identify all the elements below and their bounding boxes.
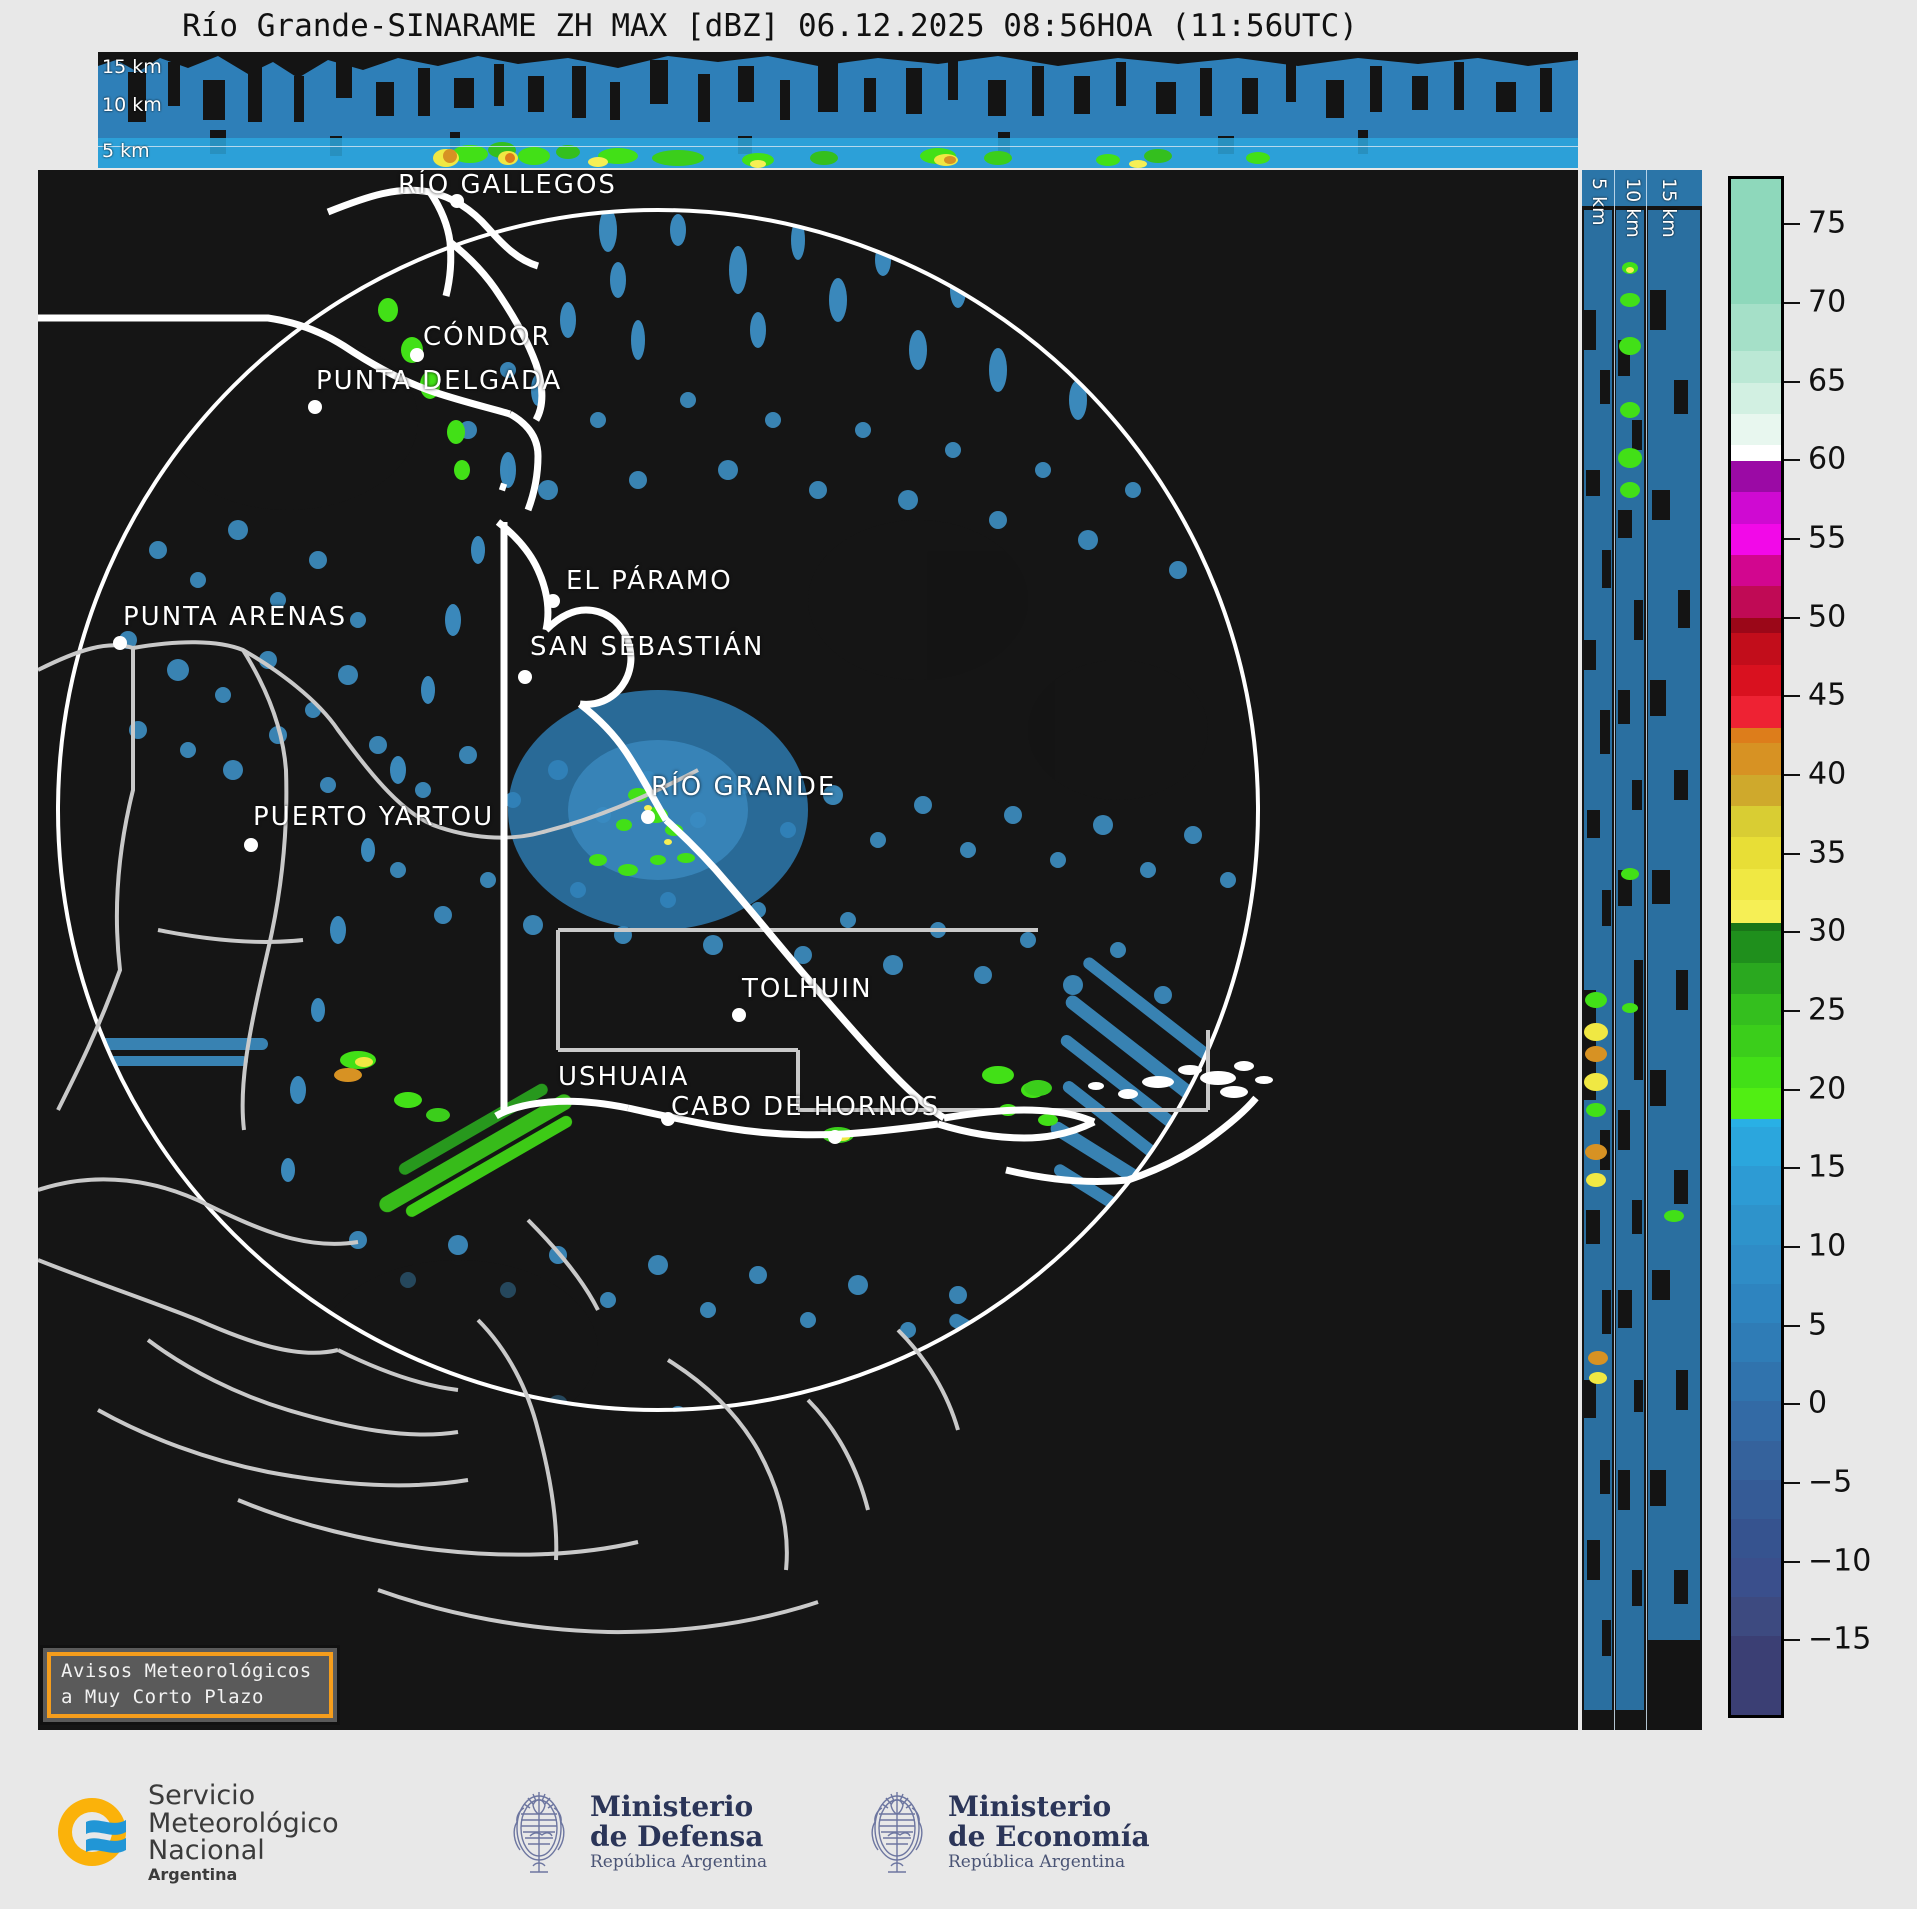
colorbar-segment bbox=[1731, 1597, 1781, 1636]
colorbar-tick-label: −5 bbox=[1808, 1464, 1852, 1499]
right-crosssection-echo bbox=[1582, 170, 1702, 1730]
colorbar-tick bbox=[1784, 459, 1800, 461]
colorbar-segment bbox=[1731, 837, 1781, 868]
argentina-coat-of-arms-icon bbox=[500, 1780, 578, 1884]
city-dot-condor bbox=[410, 348, 424, 362]
colorbar-segment bbox=[1731, 1057, 1781, 1088]
city-label-rio-grande: RÍO GRANDE bbox=[651, 772, 836, 802]
colorbar: −15−10−5051015202530354045505560657075 bbox=[1728, 176, 1784, 1718]
economia-line-1: Ministerio bbox=[948, 1792, 1150, 1821]
colorbar-tick-label: 10 bbox=[1808, 1228, 1846, 1263]
colorbar-segment bbox=[1731, 1245, 1781, 1284]
city-label-rio-gallegos: RÍO GALLEGOS bbox=[398, 170, 617, 200]
colorbar-tick bbox=[1784, 223, 1800, 225]
colorbar-tick bbox=[1784, 1639, 1800, 1641]
colorbar-gradient bbox=[1728, 176, 1784, 1718]
colorbar-segment bbox=[1731, 1025, 1781, 1056]
colorbar-segment bbox=[1731, 586, 1781, 617]
colorbar-tick bbox=[1784, 1089, 1800, 1091]
xsec-height-label-15km: 15 km bbox=[1658, 178, 1680, 238]
city-dot-punta-delgada bbox=[308, 400, 322, 414]
colorbar-tick-label: 35 bbox=[1808, 835, 1846, 870]
colorbar-segment bbox=[1731, 1480, 1781, 1519]
xsec-vertical-gridline-1 bbox=[1614, 170, 1615, 1730]
city-dot-rio-grande bbox=[641, 810, 655, 824]
city-label-tolhuin: TOLHUIN bbox=[742, 974, 873, 1004]
xsec-vertical-gridline-2 bbox=[1646, 170, 1647, 1730]
colorbar-tick bbox=[1784, 617, 1800, 619]
city-label-ushuaia: USHUAIA bbox=[558, 1062, 689, 1092]
footer-logos: Servicio Meteorológico Nacional Argentin… bbox=[0, 1760, 1917, 1909]
city-label-el-paramo: EL PÁRAMO bbox=[566, 566, 733, 596]
smn-line-2: Meteorológico bbox=[148, 1810, 339, 1838]
colorbar-tick bbox=[1784, 774, 1800, 776]
city-dot-rio-gallegos bbox=[450, 194, 464, 208]
colorbar-segment bbox=[1731, 461, 1781, 492]
smn-line-1: Servicio bbox=[148, 1782, 339, 1810]
colorbar-segment bbox=[1731, 963, 1781, 994]
colorbar-segment bbox=[1731, 775, 1781, 806]
colorbar-tick-label: 55 bbox=[1808, 520, 1846, 555]
city-dot-tolhuin bbox=[732, 1008, 746, 1022]
colorbar-segment bbox=[1731, 618, 1781, 634]
smn-logo-icon bbox=[46, 1786, 138, 1878]
colorbar-tick bbox=[1784, 695, 1800, 697]
colorbar-tick-label: 70 bbox=[1808, 284, 1846, 319]
colorbar-tick bbox=[1784, 1325, 1800, 1327]
colorbar-segment bbox=[1731, 1166, 1781, 1205]
height-label-10km: 10 km bbox=[102, 94, 162, 116]
colorbar-segment bbox=[1731, 994, 1781, 1025]
island-echo bbox=[982, 1066, 1052, 1096]
defensa-logo-text: Ministerio de Defensa República Argentin… bbox=[590, 1792, 767, 1872]
colorbar-tick-label: 45 bbox=[1808, 678, 1846, 713]
economia-line-2: de Economía bbox=[948, 1822, 1150, 1851]
city-label-punta-delgada: PUNTA DELGADA bbox=[316, 366, 562, 396]
xsec-height-label-5km: 5 km bbox=[1588, 178, 1610, 226]
colorbar-tick bbox=[1784, 1561, 1800, 1563]
colorbar-tick-label: 20 bbox=[1808, 1071, 1846, 1106]
smn-sub: Argentina bbox=[148, 1867, 339, 1883]
city-dot-san-sebastian bbox=[518, 670, 532, 684]
smn-line-3: Nacional bbox=[148, 1837, 339, 1865]
city-label-san-sebastian: SAN SEBASTIÁN bbox=[530, 632, 764, 662]
colorbar-tick bbox=[1784, 931, 1800, 933]
colorbar-segment bbox=[1731, 1119, 1781, 1127]
city-label-condor: CÓNDOR bbox=[423, 322, 552, 352]
colorbar-tick-label: 50 bbox=[1808, 599, 1846, 634]
colorbar-segment bbox=[1731, 806, 1781, 837]
colorbar-segment bbox=[1731, 931, 1781, 962]
colorbar-segment bbox=[1731, 351, 1781, 382]
colorbar-segment bbox=[1731, 728, 1781, 744]
colorbar-tick-label: 15 bbox=[1808, 1150, 1846, 1185]
logo-ministerio-economia: Ministerio de Economía República Argenti… bbox=[858, 1780, 1150, 1884]
colorbar-segment bbox=[1731, 1676, 1781, 1715]
warning-legend-inner: Avisos Meteorológicos a Muy Corto Plazo bbox=[47, 1652, 333, 1718]
colorbar-tick-label: 75 bbox=[1808, 206, 1846, 241]
colorbar-segment bbox=[1731, 1441, 1781, 1480]
colorbar-segment bbox=[1731, 304, 1781, 351]
colorbar-segment bbox=[1731, 1205, 1781, 1244]
colorbar-ticks: −15−10−5051015202530354045505560657075 bbox=[1784, 176, 1917, 1718]
colorbar-tick bbox=[1784, 1403, 1800, 1405]
colorbar-segment bbox=[1731, 445, 1781, 461]
logo-ministerio-defensa: Ministerio de Defensa República Argentin… bbox=[500, 1780, 767, 1884]
colorbar-segment bbox=[1731, 1323, 1781, 1362]
colorbar-tick bbox=[1784, 1010, 1800, 1012]
top-crosssection-echo bbox=[98, 52, 1578, 168]
warning-legend-box[interactable]: Avisos Meteorológicos a Muy Corto Plazo bbox=[40, 1645, 340, 1725]
colorbar-tick bbox=[1784, 1246, 1800, 1248]
colorbar-tick bbox=[1784, 538, 1800, 540]
colorbar-tick bbox=[1784, 853, 1800, 855]
colorbar-tick-label: 60 bbox=[1808, 442, 1846, 477]
defensa-sub: República Argentina bbox=[590, 1854, 767, 1872]
warning-line-1: Avisos Meteorológicos bbox=[61, 1659, 329, 1685]
radar-echo-layer bbox=[38, 170, 1578, 1730]
colorbar-segment bbox=[1731, 665, 1781, 696]
warning-line-2: a Muy Corto Plazo bbox=[61, 1685, 329, 1711]
colorbar-tick-label: 25 bbox=[1808, 992, 1846, 1027]
radar-ppi-map[interactable]: RÍO GALLEGOS CÓNDOR PUNTA DELGADA EL PÁR… bbox=[38, 170, 1578, 1730]
colorbar-tick-label: 40 bbox=[1808, 756, 1846, 791]
defensa-line-2: de Defensa bbox=[590, 1822, 767, 1851]
smn-logo-text: Servicio Meteorológico Nacional Argentin… bbox=[148, 1782, 339, 1883]
colorbar-segment bbox=[1731, 923, 1781, 931]
colorbar-tick-label: 65 bbox=[1808, 363, 1846, 398]
colorbar-segment bbox=[1731, 900, 1781, 924]
colorbar-tick bbox=[1784, 302, 1800, 304]
colorbar-tick bbox=[1784, 381, 1800, 383]
colorbar-segment bbox=[1731, 1401, 1781, 1440]
colorbar-segment bbox=[1731, 492, 1781, 523]
colorbar-tick-label: −15 bbox=[1808, 1622, 1871, 1657]
city-dot-cabo-de-hornos bbox=[828, 1130, 842, 1144]
colorbar-tick-label: 30 bbox=[1808, 914, 1846, 949]
economia-logo-text: Ministerio de Economía República Argenti… bbox=[948, 1792, 1150, 1872]
colorbar-segment bbox=[1731, 524, 1781, 555]
height-gridline-10km bbox=[98, 146, 1578, 147]
top-crosssection-panel: 15 km 10 km 5 km bbox=[98, 52, 1578, 168]
city-dot-punta-arenas bbox=[113, 636, 127, 650]
colorbar-segment bbox=[1731, 383, 1781, 414]
colorbar-segment bbox=[1731, 869, 1781, 900]
colorbar-segment bbox=[1731, 1088, 1781, 1119]
colorbar-segment bbox=[1731, 555, 1781, 586]
city-label-punta-arenas: PUNTA ARENAS bbox=[123, 602, 347, 632]
colorbar-segment bbox=[1731, 696, 1781, 727]
colorbar-tick-label: 0 bbox=[1808, 1386, 1827, 1421]
city-dot-el-paramo bbox=[546, 594, 560, 608]
argentina-coat-of-arms-icon-2 bbox=[858, 1780, 936, 1884]
height-label-15km: 15 km bbox=[102, 56, 162, 78]
colorbar-tick bbox=[1784, 1482, 1800, 1484]
colorbar-segment bbox=[1731, 1519, 1781, 1558]
colorbar-segment bbox=[1731, 1127, 1781, 1166]
economia-sub: República Argentina bbox=[948, 1854, 1150, 1872]
colorbar-segment bbox=[1731, 1636, 1781, 1675]
colorbar-segment bbox=[1731, 179, 1781, 304]
colorbar-segment bbox=[1731, 1284, 1781, 1323]
xsec-height-label-10km: 10 km bbox=[1622, 178, 1644, 238]
height-label-5km: 5 km bbox=[102, 140, 150, 162]
colorbar-segment bbox=[1731, 633, 1781, 664]
colorbar-segment bbox=[1731, 414, 1781, 445]
colorbar-tick bbox=[1784, 1167, 1800, 1169]
city-label-cabo-de-hornos: CABO DE HORNOS bbox=[671, 1092, 940, 1122]
colorbar-tick-label: −10 bbox=[1808, 1543, 1871, 1578]
colorbar-tick-label: 5 bbox=[1808, 1307, 1827, 1342]
city-dot-puerto-yartou bbox=[244, 838, 258, 852]
page-title: Río Grande-SINARAME ZH MAX [dBZ] 06.12.2… bbox=[0, 8, 1540, 44]
colorbar-segment bbox=[1731, 743, 1781, 774]
right-crosssection-panel: 5 km 10 km 15 km bbox=[1582, 170, 1702, 1730]
logo-smn: Servicio Meteorológico Nacional Argentin… bbox=[46, 1782, 339, 1883]
defensa-line-1: Ministerio bbox=[590, 1792, 767, 1821]
colorbar-segment bbox=[1731, 1362, 1781, 1401]
city-label-puerto-yartou: PUERTO YARTOU bbox=[253, 802, 494, 832]
colorbar-segment bbox=[1731, 1558, 1781, 1597]
